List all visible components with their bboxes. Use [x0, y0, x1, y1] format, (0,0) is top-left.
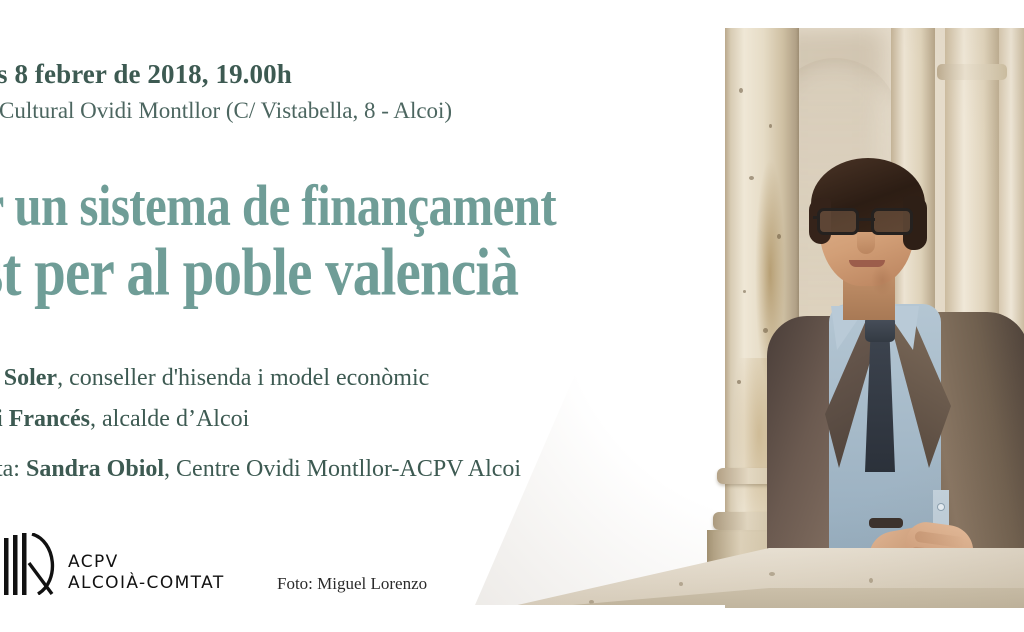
event-venue-line: Centre Cultural Ovidi Montllor (C/ Vista… [0, 98, 452, 124]
speaker-name: Antoni Francés [0, 406, 90, 432]
speaker-entry: Antoni Francés, alcalde d’Alcoi [0, 406, 249, 433]
presenter-role: , Centre Ovidi Montllor-ACPV Alcoi [164, 456, 521, 482]
eyeglass-lens-right [871, 208, 913, 235]
speaker-role: , conseller d'hisenda i model econòmic [57, 365, 429, 391]
acpv-logo-line-1: ACPV [68, 552, 225, 573]
rear-column-capital [937, 64, 1007, 80]
poster-canvas: Dijous 8 febrer de 2018, 19.00h Centre C… [0, 0, 1024, 632]
stone-pit [743, 290, 746, 293]
photo-credit: Foto: Miguel Lorenzo [277, 574, 427, 594]
eyeglass-lens-left [817, 208, 859, 235]
acpv-logo: ACPV ALCOIÀ-COMTAT [0, 533, 225, 595]
headline-line-1: Per un sistema de finançament [0, 178, 556, 234]
shirt-button [938, 504, 944, 510]
ledge-speck [869, 578, 873, 583]
ledge-speck [769, 572, 775, 576]
presenter-name: Sandra Obiol [26, 456, 164, 482]
ledge-speck [679, 582, 683, 586]
stone-pit [763, 328, 768, 333]
cheek-shadow [871, 264, 893, 296]
acpv-bars-mark-icon [0, 533, 64, 595]
stone-pit [749, 176, 754, 180]
finger [914, 531, 965, 549]
presenter-prefix: Presenta: [0, 456, 26, 482]
speaker-entry: Vicent Soler, conseller d'hisenda i mode… [0, 365, 429, 392]
event-date-line: Dijous 8 febrer de 2018, 19.00h [0, 59, 292, 90]
stone-pit [769, 124, 772, 128]
page-title: Per un sistema de finançament just per a… [0, 178, 556, 295]
headline-line-2: just per al poble valencià [0, 240, 556, 305]
eyeglass-temple [813, 216, 820, 219]
speaker-name: Vicent Soler [0, 365, 57, 391]
speaker-role: , alcalde d’Alcoi [90, 406, 249, 432]
mouth [849, 260, 885, 267]
stone-pit [739, 88, 743, 93]
acpv-logo-line-2: ALCOIÀ-COMTAT [68, 573, 225, 594]
portrait-figure [773, 146, 1024, 608]
acpv-logo-text: ACPV ALCOIÀ-COMTAT [68, 552, 225, 593]
eyeglasses-icon [813, 208, 925, 238]
stone-pit [737, 380, 741, 384]
eyeglass-bridge [859, 218, 875, 221]
presenter-entry: Presenta: Sandra Obiol, Centre Ovidi Mon… [0, 456, 521, 483]
